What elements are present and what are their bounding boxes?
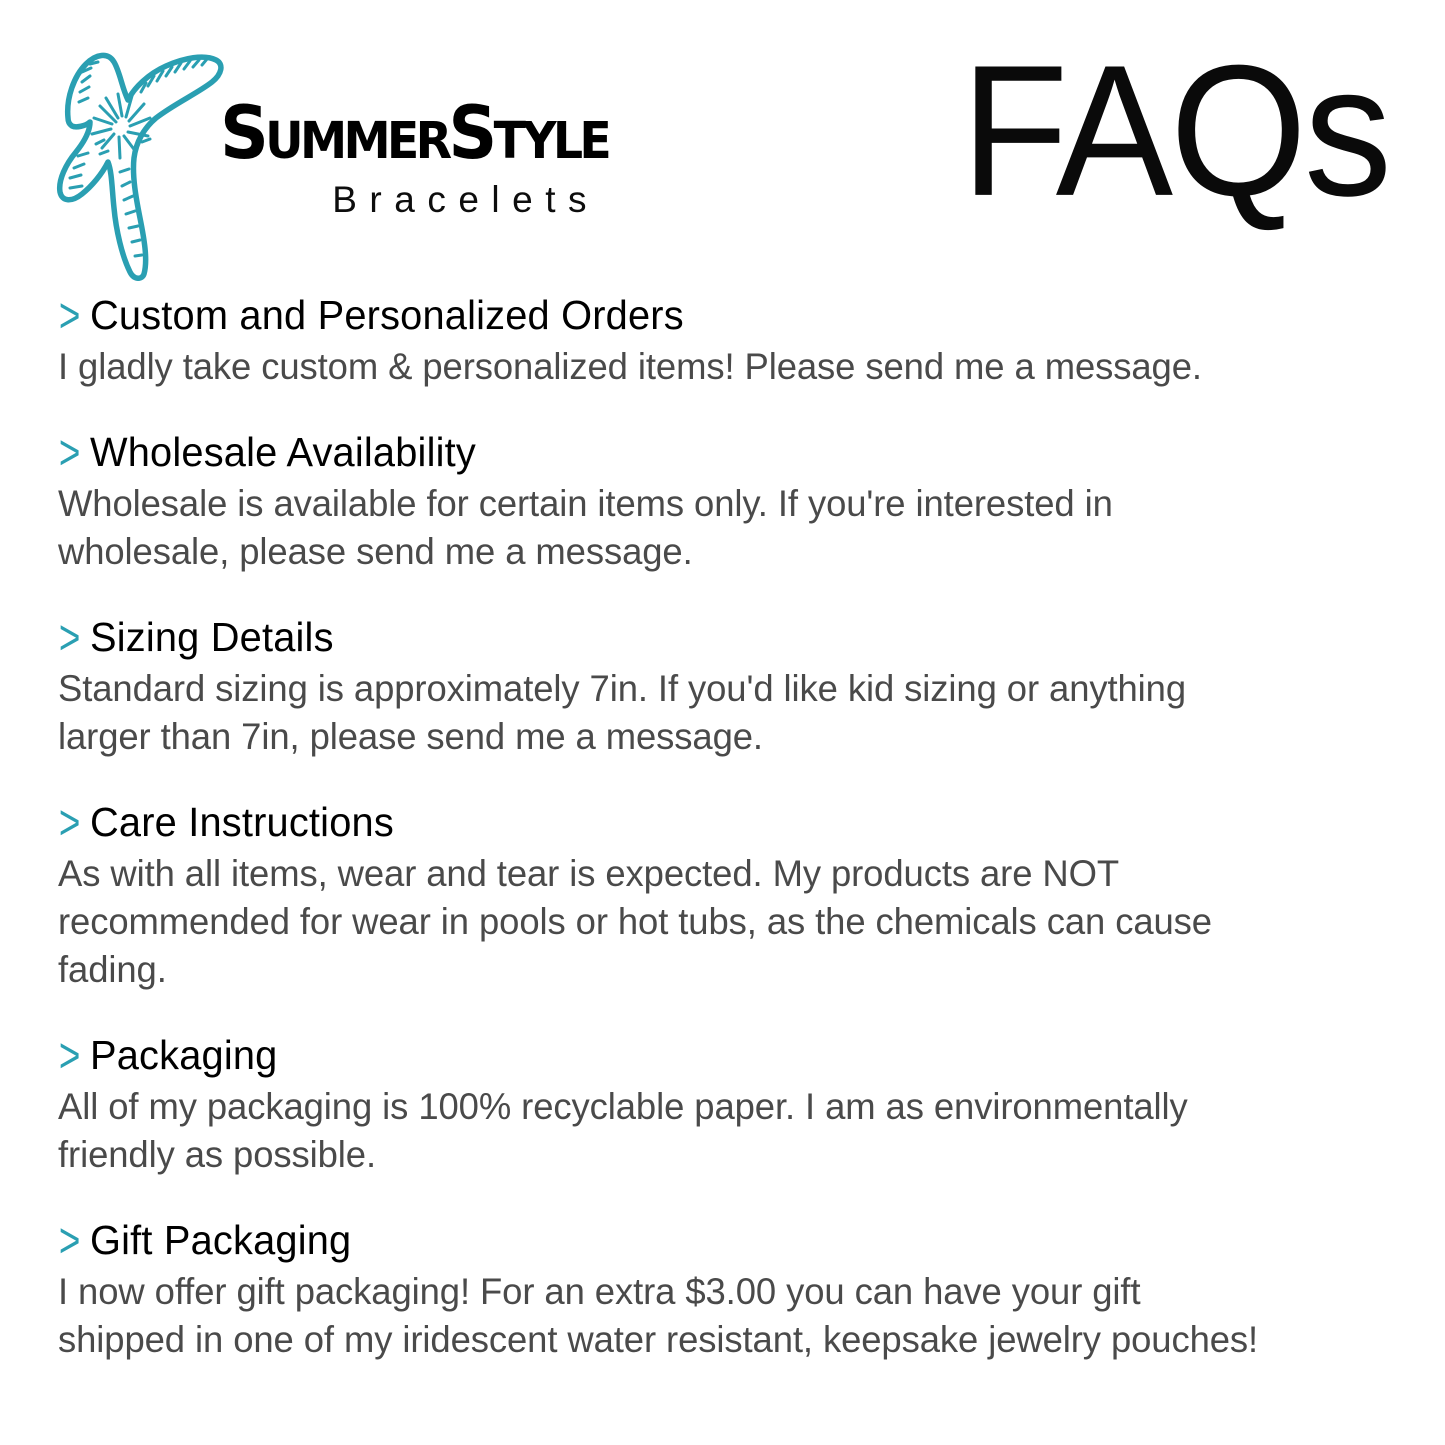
faq-question-label: Gift Packaging: [90, 1218, 351, 1264]
page-header: SummerStyle Bracelets FAQs: [0, 0, 1445, 285]
faq-page: SummerStyle Bracelets FAQs > Custom and …: [0, 0, 1445, 1445]
faq-question[interactable]: > Care Instructions: [58, 800, 1389, 846]
faq-item: > Sizing Details Standard sizing is appr…: [58, 615, 1389, 761]
faq-answer: All of my packaging is 100% recyclable p…: [58, 1083, 1225, 1179]
faq-answer: I now offer gift packaging! For an extra…: [58, 1268, 1270, 1364]
faq-question-label: Sizing Details: [90, 615, 334, 661]
brand-name: SummerStyle: [220, 100, 608, 167]
faq-item: > Custom and Personalized Orders I gladl…: [58, 293, 1389, 391]
chevron-right-icon: >: [59, 614, 80, 663]
page-title: FAQs: [961, 38, 1389, 225]
faq-answer: Wholesale is available for certain items…: [58, 480, 1225, 576]
faq-answer: I gladly take custom & personalized item…: [58, 343, 1225, 391]
chevron-right-icon: >: [59, 292, 80, 341]
faq-question-label: Wholesale Availability: [90, 430, 476, 476]
faq-item: > Wholesale Availability Wholesale is av…: [58, 430, 1389, 576]
faq-question-label: Care Instructions: [90, 800, 394, 846]
faq-question[interactable]: > Sizing Details: [58, 615, 1389, 661]
faq-question[interactable]: > Gift Packaging: [58, 1218, 1389, 1264]
faq-question-label: Packaging: [90, 1033, 277, 1079]
faq-list: > Custom and Personalized Orders I gladl…: [0, 293, 1445, 1365]
chevron-right-icon: >: [59, 799, 80, 848]
faq-question[interactable]: > Packaging: [58, 1033, 1389, 1079]
faq-item: > Care Instructions As with all items, w…: [58, 800, 1389, 994]
starfish-icon: [56, 26, 226, 281]
chevron-right-icon: >: [59, 1217, 80, 1266]
faq-answer: As with all items, wear and tear is expe…: [58, 850, 1225, 994]
faq-question[interactable]: > Custom and Personalized Orders: [58, 293, 1389, 339]
faq-item: > Packaging All of my packaging is 100% …: [58, 1033, 1389, 1179]
brand-logo: SummerStyle Bracelets: [56, 22, 637, 277]
brand-wordmark: SummerStyle Bracelets: [220, 22, 637, 221]
chevron-right-icon: >: [59, 1032, 80, 1081]
faq-question-label: Custom and Personalized Orders: [90, 293, 684, 339]
faq-item: > Gift Packaging I now offer gift packag…: [58, 1218, 1389, 1364]
faq-answer: Standard sizing is approximately 7in. If…: [58, 665, 1225, 761]
faq-question[interactable]: > Wholesale Availability: [58, 430, 1389, 476]
chevron-right-icon: >: [59, 429, 80, 478]
